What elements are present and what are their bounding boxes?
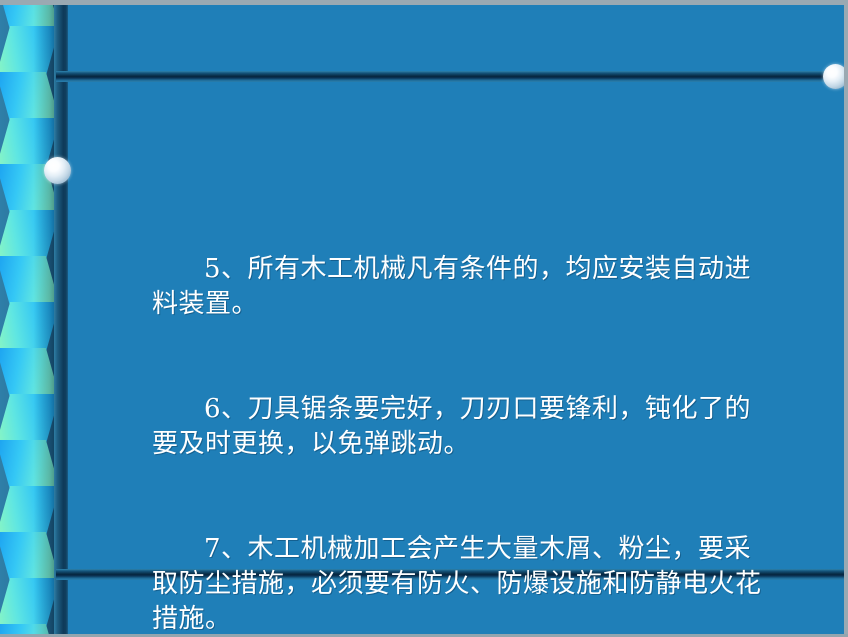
ribbon-segment	[0, 394, 56, 444]
ribbon-segment	[0, 302, 56, 352]
ribbon-segment	[0, 348, 56, 398]
body-paragraph-7: 7、木工机械加工会产生大量木屑、粉尘，要采取防尘措施，必须要有防火、防爆设施和防…	[152, 532, 777, 637]
top-edge-strip	[0, 0, 848, 5]
slide-body-text: 5、所有木工机械凡有条件的，均应安装自动进料装置。 6、刀具锯条要完好，刀刃口要…	[152, 182, 777, 637]
ribbon-segment	[0, 210, 56, 260]
body-paragraph-6: 6、刀具锯条要完好，刀刃口要锋利，钝化了的要及时更换，以免弹跳动。	[152, 392, 777, 462]
body-paragraph-5: 5、所有木工机械凡有条件的，均应安装自动进料装置。	[152, 252, 777, 322]
ribbon-segment	[0, 486, 56, 536]
slide-canvas: 5、所有木工机械凡有条件的，均应安装自动进料装置。 6、刀具锯条要完好，刀刃口要…	[0, 0, 848, 637]
ribbon-segment	[0, 256, 56, 306]
top-divider-rail	[56, 71, 844, 82]
ribbon-segment	[0, 72, 56, 122]
ribbon-segment	[0, 26, 56, 76]
left-ribbon-decoration	[0, 0, 56, 637]
left-sphere-bullet-icon	[44, 157, 71, 184]
ribbon-segment	[0, 532, 56, 582]
ribbon-segment	[0, 440, 56, 490]
right-edge-strip	[844, 0, 848, 637]
band-bevel-edge	[54, 0, 69, 637]
ribbon-segment	[0, 578, 56, 628]
